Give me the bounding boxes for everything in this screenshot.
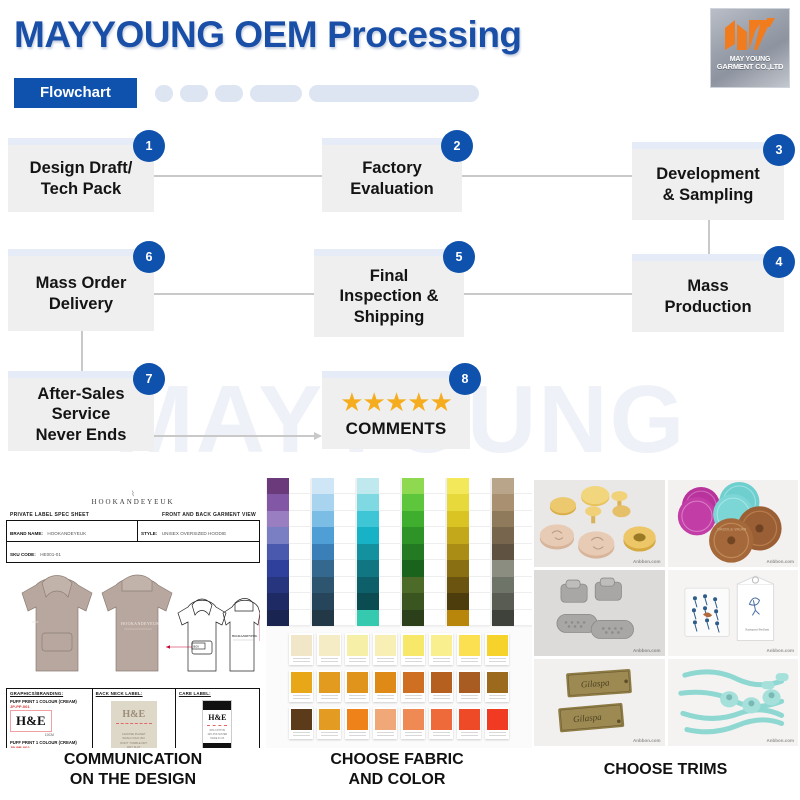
star-rating-icon: ★★★★★ (340, 389, 452, 415)
flow-node-label: After-Sales Service Never Ends (28, 384, 135, 444)
spec-header-left: PRIVATE LABEL SPEC SHEET (10, 512, 89, 518)
spec-brand-val: HOOKANDEYEUK (47, 531, 86, 536)
fabric-swatch-card (317, 707, 341, 739)
spec-sku-key: SKU CODE: (10, 552, 36, 557)
svg-text:BOX: BOX (194, 645, 200, 649)
flow-step-badge-2: 2 (441, 130, 473, 162)
hoodie-technical-drawings-icon: H&E HOOKANDEYEUK (6, 567, 260, 685)
infographic-page: MAYYOUNG MAYYOUNG OEMProcessing MAY YOUN… (0, 0, 800, 800)
spec-panel-neck-label: BACK NECK LABEL: H&E CHOOSE PLANET WASH … (93, 689, 176, 748)
placeholder-pill-5 (309, 85, 479, 102)
care-label-artwork: H&E 80% COTTON 20% POLYESTER MADE IN UK (202, 700, 232, 748)
care-label-logo: H&E (203, 713, 231, 722)
fabric-swatch-card (373, 707, 397, 739)
section-captions: COMMUNICATION ON THE DESIGN CHOOSE FABRI… (0, 748, 800, 800)
fabric-color-cards (266, 478, 532, 748)
placeholder-pills (155, 85, 479, 102)
spec-dim-1: 10CM (10, 733, 89, 737)
neck-label-artwork: H&E CHOOSE PLANET WASH COLD 30C DON'T TU… (111, 701, 157, 748)
page-title: MAYYOUNG OEMProcessing (14, 14, 522, 56)
fabric-swatch-row-2 (266, 670, 532, 702)
spec-logo-he-large: H&E (16, 713, 46, 728)
svg-text:Gilaspa: Gilaspa (581, 678, 611, 690)
spec-brand-cell: BRAND NAME: HOOKANDEYEUK (7, 521, 138, 541)
svg-text:H&E: H&E (32, 620, 39, 624)
page-title-part2: Processing (327, 14, 521, 55)
caption-communication: COMMUNICATION ON THE DESIGN (8, 750, 258, 791)
fabric-swatch-card (429, 707, 453, 739)
trims-photo-grid: Anbbon.com SADDLE WEAR (532, 478, 800, 748)
fabric-swatch-grid (266, 628, 532, 748)
flow-node-label: Final Inspection & Shipping (331, 266, 446, 326)
fabric-swatch-card (289, 633, 313, 665)
fabric-swatch-card (289, 670, 313, 702)
flow-step-badge-5: 5 (443, 241, 475, 273)
spec-panel-title-care: CARE LABEL: (179, 691, 256, 696)
svg-text:HOOKANDEYEUK: HOOKANDEYEUK (121, 621, 160, 626)
trim-watermark: Anbbon.com (767, 738, 795, 743)
fabric-swatch-card (485, 633, 509, 665)
svg-text:Rampant Bedlam: Rampant Bedlam (745, 627, 769, 631)
svg-text:HOOKANDEYEUK: HOOKANDEYEUK (232, 634, 258, 638)
fabric-swatch-card (289, 707, 313, 739)
spec-logo-box-large: H&E (10, 710, 52, 732)
fabric-strip-card-2 (312, 478, 355, 626)
fabric-swatch-card (373, 670, 397, 702)
fabric-swatch-card (485, 707, 509, 739)
fabric-swatch-card (373, 633, 397, 665)
logo-line-2: GARMENT CO.,LTD (717, 63, 783, 71)
connector-6-to-7 (81, 331, 83, 371)
connector-1-to-2 (154, 175, 322, 177)
svg-text:SADDLE WEAR: SADDLE WEAR (717, 526, 746, 531)
trim-drawcord-stoppers: Anbbon.com (668, 659, 799, 746)
caption-fabric: CHOOSE FABRIC AND COLOR (272, 750, 522, 791)
garment-sketches: H&E HOOKANDEYEUK (6, 567, 260, 685)
trim-leather-patch-labels: SADDLE WEAR Anbbon.com (668, 480, 799, 567)
trim-zipper-pulls: Anbbon.com (534, 570, 665, 657)
fabric-swatch-card (345, 670, 369, 702)
trim-watermark: Anbbon.com (633, 648, 661, 653)
photo-strip: ⌇ HOOKANDEYEUK PRIVATE LABEL SPEC SHEET … (0, 478, 800, 748)
fabric-swatch-card (457, 670, 481, 702)
fabric-strip-card-3 (357, 478, 400, 626)
may-young-monogram-icon (723, 18, 777, 52)
spec-brand-key: BRAND NAME: (10, 531, 43, 536)
flow-node-5[interactable]: Final Inspection & Shipping (314, 249, 464, 337)
fabric-strip-card-6 (492, 478, 532, 626)
flow-node-7[interactable]: After-Sales Service Never Ends (8, 371, 154, 451)
spec-info-row: BRAND NAME: HOOKANDEYEUK STYLE: UNISEX O… (7, 521, 259, 542)
tab-flowchart[interactable]: Flowchart (14, 78, 137, 108)
flow-node-label: Design Draft/ Tech Pack (22, 158, 141, 198)
flow-step-badge-1: 1 (133, 130, 165, 162)
fabric-strip-card-5 (447, 478, 490, 626)
caption-trims: CHOOSE TRIMS (538, 760, 793, 780)
flow-node-6[interactable]: Mass Order Delivery (8, 249, 154, 331)
fabric-swatch-card (317, 633, 341, 665)
fabric-strip-card-1 (267, 478, 310, 626)
fabric-swatch-card (401, 670, 425, 702)
flow-node-label: Factory Evaluation (342, 158, 441, 198)
panel-choose-trims: Anbbon.com SADDLE WEAR (532, 478, 800, 748)
spec-sku-cell: SKU CODE: HE001-01 (7, 542, 259, 562)
connector-5-to-6 (154, 293, 314, 295)
trim-hang-tags-and-pins: Rampant Bedlam Anbbon.com (668, 570, 799, 657)
spec-style-val: UNISEX OVERSIZED HOODIE (162, 531, 226, 536)
page-title-part1: MAYYOUNG OEM (14, 14, 317, 55)
placeholder-pill-2 (180, 85, 208, 102)
flow-step-badge-3: 3 (763, 134, 795, 166)
connector-3-to-4 (708, 220, 710, 254)
panel-choose-fabric-and-color (266, 478, 532, 748)
neck-label-care-text: CHOOSE PLANET WASH COLD 30C DON'T TUMBLE… (120, 732, 147, 748)
trim-watermark: Anbbon.com (633, 738, 661, 743)
spec-style-cell: STYLE: UNISEX OVERSIZED HOODIE (138, 521, 259, 541)
spec-panel-graphics: GRAPHICS/BRANDING: PUFF PRINT 1 COLOUR (… (7, 689, 93, 748)
flow-node-1[interactable]: Design Draft/ Tech Pack (8, 138, 154, 212)
company-logo: MAY YOUNG GARMENT CO.,LTD (710, 8, 790, 88)
trim-metal-plate-labels: Gilaspa Gilaspa Anbbon.com (534, 659, 665, 746)
spec-info-table: BRAND NAME: HOOKANDEYEUK STYLE: UNISEX O… (6, 520, 260, 563)
tab-row: Flowchart (14, 78, 479, 108)
neck-label-logo: H&E (122, 709, 145, 720)
process-flowchart: Design Draft/ Tech Pack1Factory Evaluati… (0, 120, 800, 460)
tech-pack-spec-sheet: ⌇ HOOKANDEYEUK PRIVATE LABEL SPEC SHEET … (0, 478, 266, 748)
fabric-swatch-card (317, 670, 341, 702)
fabric-strip-card-4 (402, 478, 445, 626)
fabric-swatch-card (401, 707, 425, 739)
spec-detail-panels: GRAPHICS/BRANDING: PUFF PRINT 1 COLOUR (… (6, 688, 260, 748)
panel-communication-on-design: ⌇ HOOKANDEYEUK PRIVATE LABEL SPEC SHEET … (0, 478, 266, 748)
flow-step-badge-4: 4 (763, 246, 795, 278)
spec-print-1-code: JP-PP-001 (10, 704, 89, 709)
flow-node-8[interactable]: ★★★★★COMMENTS (322, 371, 470, 449)
trim-watermark: Anbbon.com (767, 559, 795, 564)
spec-brand-name-text: HOOKANDEYEUK (91, 498, 174, 506)
spec-info-row: SKU CODE: HE001-01 (7, 542, 259, 562)
connector-arrowhead (314, 432, 322, 440)
fabric-swatch-row-1 (266, 633, 532, 665)
fabric-swatch-row-3 (266, 707, 532, 739)
placeholder-pill-4 (250, 85, 302, 102)
flow-node-label: Development & Sampling (648, 164, 768, 204)
fabric-swatch-card (457, 633, 481, 665)
spec-panel-care-label: CARE LABEL: H&E 80% COTTON 20% POLYESTER… (176, 689, 259, 748)
flow-step-badge-6: 6 (133, 241, 165, 273)
fabric-swatch-card (345, 707, 369, 739)
flow-node-4[interactable]: Mass Production (632, 254, 784, 332)
flow-step-badge-8: 8 (449, 363, 481, 395)
trim-metal-snap-buttons: Anbbon.com (534, 480, 665, 567)
connector-4-to-5 (464, 293, 632, 295)
fabric-swatch-card (485, 670, 509, 702)
connector-7-to-8 (154, 435, 316, 437)
fabric-swatch-card (345, 633, 369, 665)
placeholder-pill-1 (155, 85, 173, 102)
flow-node-label: Mass Order Delivery (28, 273, 135, 313)
spec-panel-title-graphics: GRAPHICS/BRANDING: (10, 691, 89, 696)
trim-watermark: Anbbon.com (633, 559, 661, 564)
spec-header-right: FRONT AND BACK GARMENT VIEW (162, 512, 256, 518)
fabric-swatch-card (429, 633, 453, 665)
flow-step-badge-7: 7 (133, 363, 165, 395)
flow-node-3[interactable]: Development & Sampling (632, 142, 784, 220)
care-label-text: 80% COTTON 20% POLYESTER MADE IN UK (203, 729, 231, 741)
fabric-swatch-card (429, 670, 453, 702)
flow-node-label: COMMENTS (346, 419, 447, 439)
spec-sku-val: HE001-01 (40, 552, 61, 557)
spec-style-key: STYLE: (141, 531, 157, 536)
connector-2-to-3 (462, 175, 632, 177)
placeholder-pill-3 (215, 85, 243, 102)
spec-panel-title-neck: BACK NECK LABEL: (96, 691, 172, 696)
fabric-color-strip-cards (266, 478, 532, 626)
flow-node-label: Mass Production (656, 276, 759, 316)
trim-watermark: Anbbon.com (767, 648, 795, 653)
fabric-swatch-card (457, 707, 481, 739)
spec-brand-script: ⌇ HOOKANDEYEUK (6, 490, 260, 506)
spec-header-row: PRIVATE LABEL SPEC SHEET FRONT AND BACK … (6, 512, 260, 518)
fabric-swatch-card (401, 633, 425, 665)
